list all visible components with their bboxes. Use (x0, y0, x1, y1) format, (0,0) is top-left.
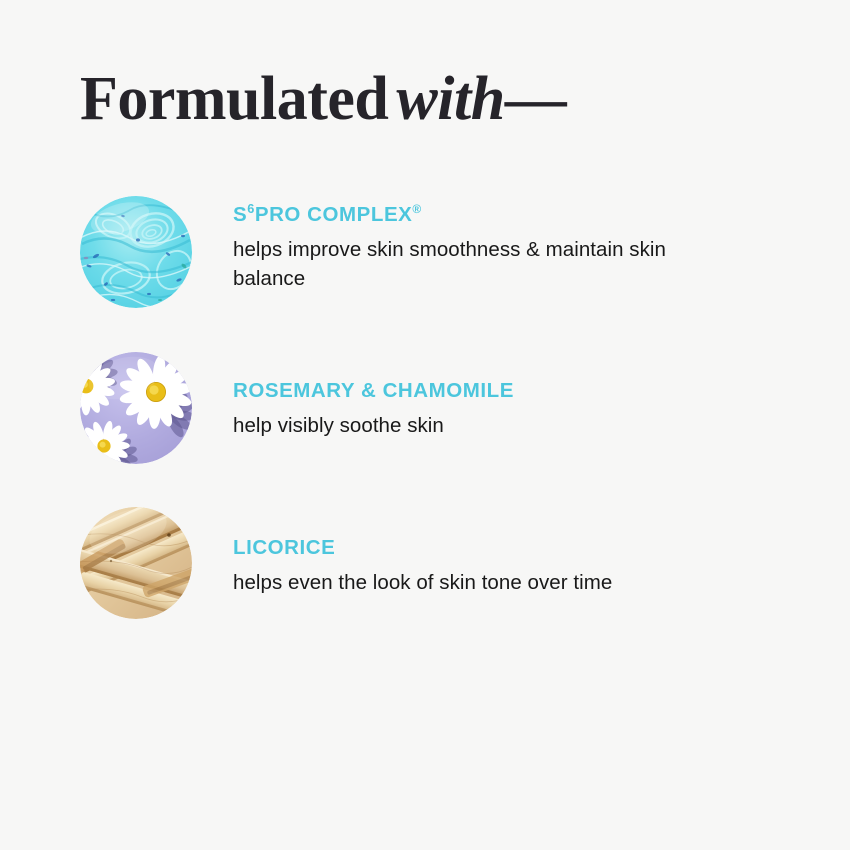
ingredient-row: S6PRO COMPLEX® helps improve skin smooth… (80, 196, 780, 316)
ingredient-copy: S6PRO COMPLEX® helps improve skin smooth… (233, 202, 773, 293)
formulated-with-panel: Formulatedwith— (0, 0, 850, 850)
blue-gel-texture-swatch (80, 196, 192, 308)
ingredient-name: LICORICE (233, 535, 773, 561)
page-title-dash: — (505, 68, 567, 130)
ingredient-name: S6PRO COMPLEX® (233, 202, 773, 228)
ingredient-description: helps improve skin smoothness & maintain… (233, 235, 713, 293)
page-title: Formulatedwith— (80, 68, 566, 130)
ingredient-name: ROSEMARY & CHAMOMILE (233, 378, 773, 404)
chamomile-flowers-swatch (80, 352, 192, 464)
ingredient-description: help visibly soothe skin (233, 411, 713, 440)
page-title-italic: with (388, 65, 504, 133)
ingredient-name-rest: PRO COMPLEX (255, 203, 413, 226)
ingredient-row: LICORICE helps even the look of skin ton… (80, 507, 780, 627)
registered-trademark-icon: ® (412, 202, 421, 216)
ingredient-name-prefix: S (233, 203, 247, 226)
ingredient-row: ROSEMARY & CHAMOMILE help visibly soothe… (80, 352, 780, 472)
ingredient-name-superscript: 6 (247, 201, 255, 216)
ingredient-description: helps even the look of skin tone over ti… (233, 568, 713, 597)
licorice-root-swatch (80, 507, 192, 619)
ingredient-copy: LICORICE helps even the look of skin ton… (233, 535, 773, 597)
page-title-roman: Formulated (80, 65, 388, 133)
ingredient-copy: ROSEMARY & CHAMOMILE help visibly soothe… (233, 378, 773, 440)
